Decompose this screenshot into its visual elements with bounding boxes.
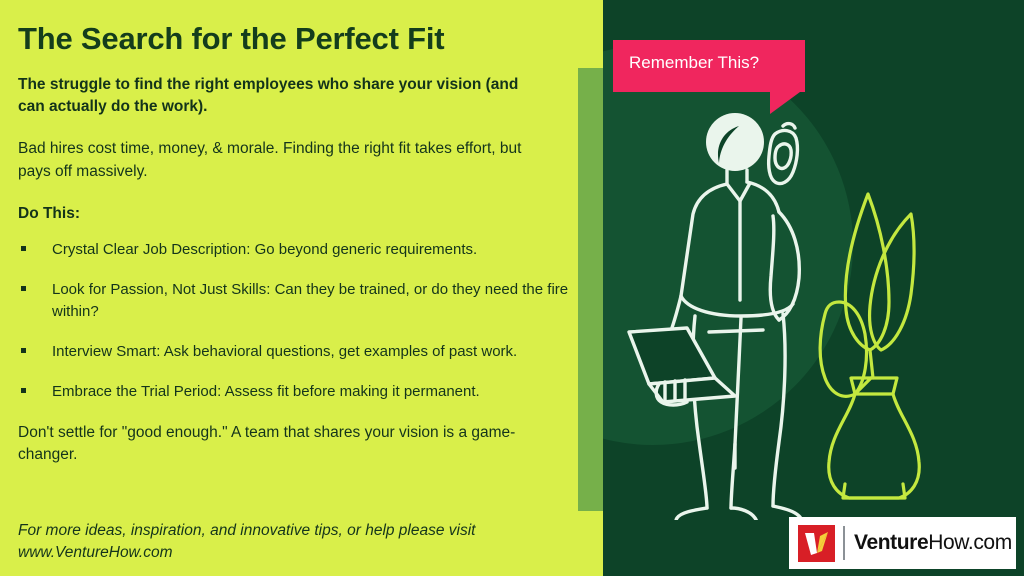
slide-canvas: The Search for the Perfect Fit The strug… [0,0,1024,576]
closing-paragraph: Don't settle for "good enough." A team t… [18,422,558,467]
square-bullet-icon [21,286,26,291]
venturehow-logo[interactable]: VentureHow.com [789,517,1016,569]
right-illustration-panel: Remember This? [603,0,1024,576]
logo-checkmark-icon [798,525,835,562]
list-item: Interview Smart: Ask behavioral question… [18,341,578,362]
accent-bar [578,68,603,511]
section-subheading: Do This: [18,205,580,223]
callout-label: Remember This? [629,53,759,73]
square-bullet-icon [21,246,26,251]
logo-name-light: How.com [928,531,1012,554]
page-title: The Search for the Perfect Fit [18,22,580,56]
list-item-label: Embrace the Trial Period: Assess fit bef… [52,383,480,400]
logo-wordmark: VentureHow.com [854,531,1012,555]
list-item-label: Look for Passion, Not Just Skills: Can t… [52,281,568,319]
potted-plant-illustration [815,182,975,502]
list-item: Look for Passion, Not Just Skills: Can t… [18,279,578,322]
footer-note: For more ideas, inspiration, and innovat… [18,520,578,564]
list-item-label: Crystal Clear Job Description: Go beyond… [52,241,477,258]
logo-divider [843,526,845,560]
left-text-column: The Search for the Perfect Fit The strug… [18,0,580,576]
tips-list: Crystal Clear Job Description: Go beyond… [18,239,578,402]
body-paragraph: Bad hires cost time, money, & morale. Fi… [18,138,538,183]
logo-name-bold: Venture [854,531,928,554]
lead-paragraph: The struggle to find the right employees… [18,74,538,118]
list-item-label: Interview Smart: Ask behavioral question… [52,343,517,360]
list-item: Embrace the Trial Period: Assess fit bef… [18,381,578,402]
callout-bubble: Remember This? [613,40,805,92]
left-content-panel: The Search for the Perfect Fit The strug… [0,0,603,576]
square-bullet-icon [21,388,26,393]
list-item: Crystal Clear Job Description: Go beyond… [18,239,578,260]
square-bullet-icon [21,348,26,353]
